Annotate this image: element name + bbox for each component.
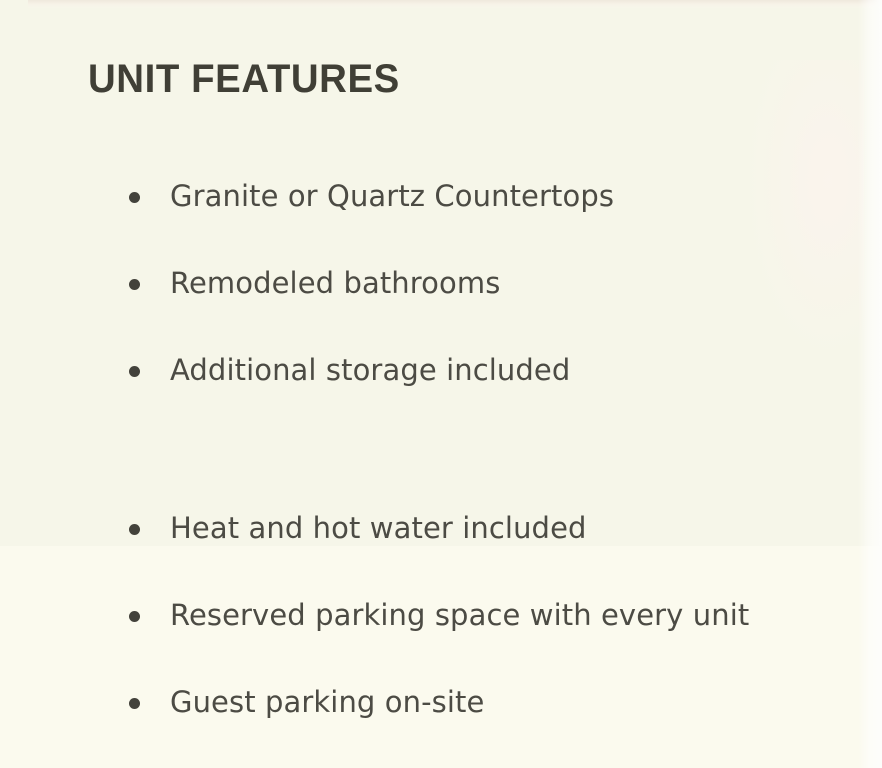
list-item-label: Remodeled bathrooms (170, 266, 500, 300)
list-item-label: Granite or Quartz Countertops (170, 179, 614, 213)
slide-content: UNIT FEATURES Granite or Quartz Countert… (0, 0, 882, 768)
right-edge-highlight (858, 0, 882, 768)
presentation-slide: UNIT FEATURES Granite or Quartz Countert… (0, 0, 882, 768)
bullet-dot-icon (129, 698, 140, 709)
list-item: Remodeled bathrooms (118, 259, 818, 308)
list-item-label: Reserved parking space with every unit (170, 598, 749, 632)
list-item: Guest parking on-site (118, 678, 818, 727)
list-item: Reserved parking space with every unit (118, 591, 830, 640)
page-title: UNIT FEATURES (88, 57, 400, 101)
list-item: Heat and hot water included (118, 504, 818, 553)
list-item-label: Additional storage included (170, 353, 570, 387)
bullet-dot-icon (129, 366, 140, 377)
list-item: Additional storage included (118, 346, 818, 395)
bullet-dot-icon (129, 279, 140, 290)
bullet-dot-icon (129, 611, 140, 622)
unit-features-list: Granite or Quartz Countertops Remodeled … (118, 172, 818, 765)
bullet-dot-icon (129, 192, 140, 203)
list-item-label: Heat and hot water included (170, 511, 587, 545)
bullet-dot-icon (129, 524, 140, 535)
list-group-spacer (118, 433, 818, 466)
list-item-label: Guest parking on-site (170, 685, 484, 719)
list-item: Granite or Quartz Countertops (118, 172, 818, 221)
